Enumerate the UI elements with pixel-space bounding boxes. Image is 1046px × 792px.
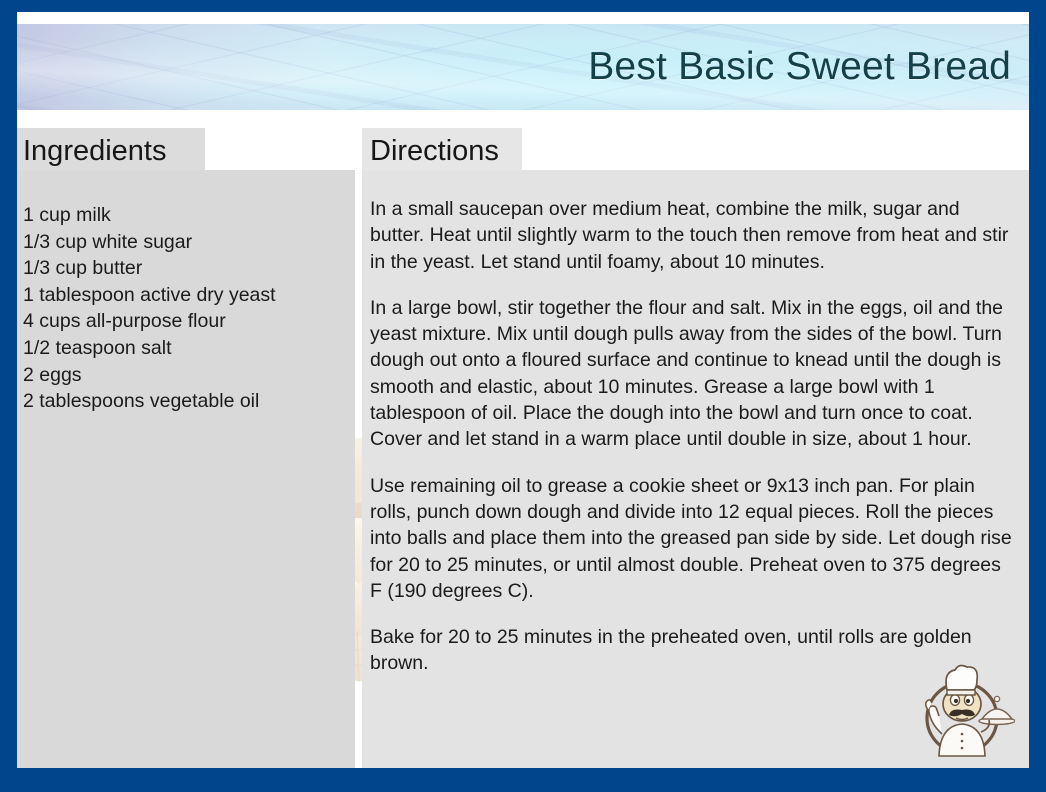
list-item: 1 cup milk: [23, 202, 347, 229]
directions-tab: Directions: [362, 128, 522, 174]
list-item: 4 cups all-purpose flour: [23, 308, 347, 335]
ingredients-heading: Ingredients: [23, 137, 167, 166]
list-item: 1/3 cup white sugar: [23, 229, 347, 256]
directions-heading: Directions: [370, 137, 499, 166]
page-title: Best Basic Sweet Bread: [588, 45, 1011, 89]
direction-step: In a large bowl, stir together the flour…: [370, 295, 1013, 453]
directions-body: In a small saucepan over medium heat, co…: [370, 196, 1013, 677]
direction-step: Use remaining oil to grease a cookie she…: [370, 473, 1013, 604]
page-sheet: Best Basic Sweet Bread: [17, 12, 1029, 768]
list-item: 2 tablespoons vegetable oil: [23, 388, 347, 415]
chef-mascot-logo: [909, 658, 1015, 762]
list-item: 2 eggs: [23, 362, 347, 389]
direction-step: In a small saucepan over medium heat, co…: [370, 196, 1013, 275]
ingredients-tab: Ingredients: [17, 128, 205, 174]
recipe-page: Best Basic Sweet Bread: [0, 0, 1046, 792]
list-item: 1/2 teaspoon salt: [23, 335, 347, 362]
ingredients-list: 1 cup milk 1/3 cup white sugar 1/3 cup b…: [23, 202, 347, 415]
header-banner: Best Basic Sweet Bread: [17, 24, 1029, 110]
list-item: 1/3 cup butter: [23, 255, 347, 282]
list-item: 1 tablespoon active dry yeast: [23, 282, 347, 309]
ingredients-panel: 1 cup milk 1/3 cup white sugar 1/3 cup b…: [17, 170, 355, 768]
